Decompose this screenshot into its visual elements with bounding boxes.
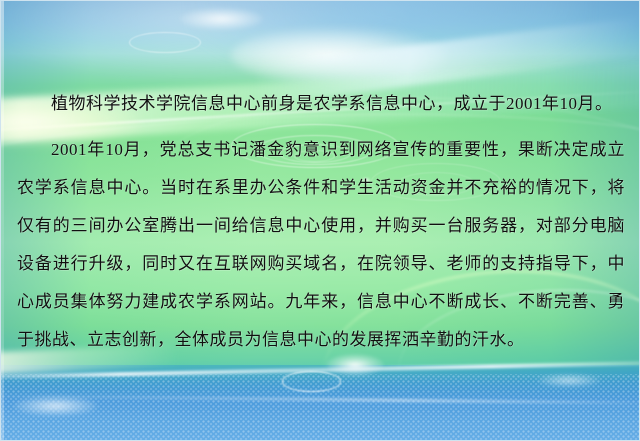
water-droplet-ring <box>282 371 341 391</box>
slide-text-content: 植物科学技术学院信息中心前身是农学系信息中心，成立于2001年10月。 2001… <box>17 85 625 359</box>
paragraph-intro: 植物科学技术学院信息中心前身是农学系信息中心，成立于2001年10月。 <box>17 85 625 123</box>
presentation-slide: 植物科学技术学院信息中心前身是农学系信息中心，成立于2001年10月。 2001… <box>0 0 640 441</box>
left-edge-sheen <box>1 1 4 440</box>
paragraph-history: 2001年10月，党总支书记潘金豹意识到网络宣传的重要性，果断决定成立农学系信息… <box>17 131 625 359</box>
cloud-shape-small <box>180 8 263 30</box>
water-foam-left <box>14 396 97 416</box>
